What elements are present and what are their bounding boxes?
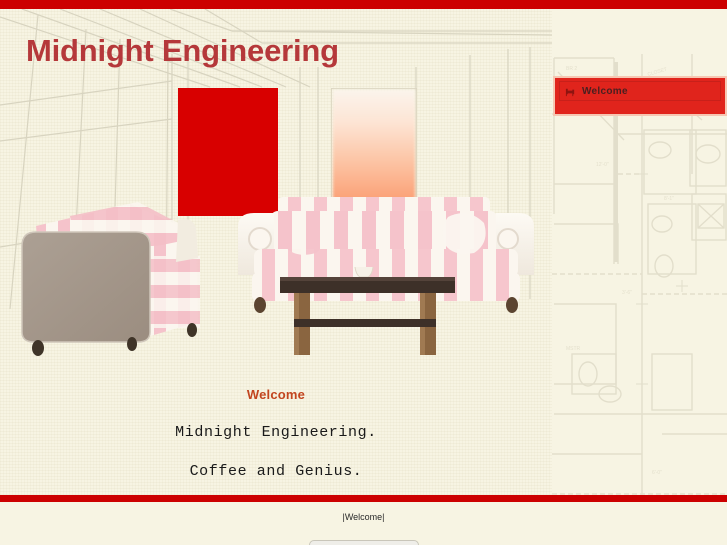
tagline-line-2: Coffee and Genius. bbox=[0, 463, 552, 480]
footer-links[interactable]: |Welcome| bbox=[0, 512, 727, 522]
page-title: Midnight Engineering bbox=[26, 33, 339, 69]
right-sidebar: BR 2 CLOSET HALL 8'-1" 3'-6" 6'-0" MSTR … bbox=[552, 9, 727, 495]
top-accent-bar bbox=[0, 0, 727, 9]
coffee-table-illustration bbox=[280, 267, 455, 359]
page-heading: Welcome bbox=[0, 387, 552, 402]
tagline-line-1: Midnight Engineering. bbox=[0, 424, 552, 441]
navigation-box: Welcome bbox=[553, 76, 727, 116]
nav-item-welcome[interactable]: Welcome bbox=[559, 81, 721, 101]
hero-illustration: Welcome Midnight Engineering. Coffee and… bbox=[0, 9, 552, 495]
bottom-accent-bar bbox=[0, 495, 727, 502]
welcome-content-block: Welcome Midnight Engineering. Coffee and… bbox=[0, 387, 552, 480]
footer: |Welcome| bbox=[0, 502, 727, 545]
svg-text:6'-0": 6'-0" bbox=[652, 470, 662, 476]
svg-text:3'-6": 3'-6" bbox=[622, 290, 632, 296]
footer-widget[interactable] bbox=[309, 540, 419, 545]
svg-text:MSTR: MSTR bbox=[566, 346, 581, 352]
svg-text:BR 2: BR 2 bbox=[566, 66, 577, 72]
blueprint-background: BR 2 CLOSET HALL 8'-1" 3'-6" 6'-0" MSTR … bbox=[552, 54, 727, 495]
svg-text:8'-1": 8'-1" bbox=[664, 196, 674, 202]
svg-text:12'-0": 12'-0" bbox=[596, 162, 609, 168]
armchair-icon bbox=[565, 86, 576, 97]
nav-item-welcome-label: Welcome bbox=[582, 86, 628, 97]
sofa-small-illustration bbox=[10, 194, 235, 369]
